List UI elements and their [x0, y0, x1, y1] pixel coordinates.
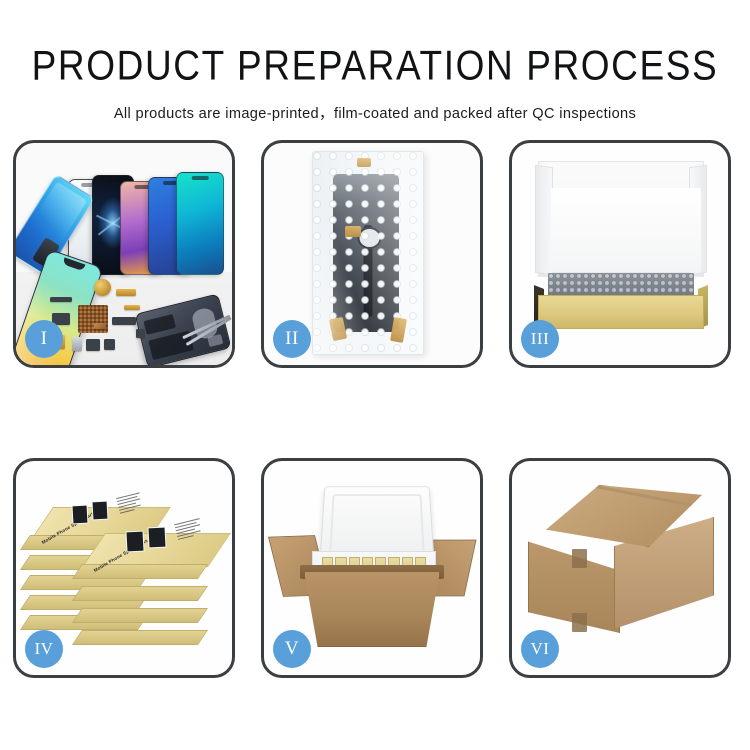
page-title: PRODUCT PREPARATION PROCESS: [0, 45, 750, 86]
step-card-3[interactable]: III: [509, 140, 731, 368]
step-badge-3: III: [521, 320, 559, 358]
step-card-6[interactable]: VI: [509, 458, 731, 678]
screen-print-rear-1: [72, 505, 89, 525]
step-badge-5: V: [273, 630, 311, 668]
foam-sheet: [551, 188, 701, 272]
step-badge-1: I: [25, 320, 63, 358]
tape-patch-lower: [572, 613, 587, 632]
box-lid-foam: [538, 161, 704, 277]
screen-print-front-2: [147, 527, 166, 549]
header: PRODUCT PREPARATION PROCESS All products…: [0, 0, 750, 123]
page-subtitle: All products are image-printed，film-coat…: [0, 102, 750, 123]
step-card-2[interactable]: II: [261, 140, 483, 368]
step-badge-2: II: [273, 320, 311, 358]
step-badge-6: VI: [521, 630, 559, 668]
tape-patch-upper: [572, 549, 587, 568]
plastic-sheen: [313, 152, 423, 354]
camera-ring-part: [94, 279, 111, 296]
bubble-wrap-bag: [312, 151, 424, 355]
open-shipping-carton: [278, 483, 468, 653]
sealed-carton: [526, 485, 716, 653]
product-preparation-infographic: PRODUCT PREPARATION PROCESS All products…: [0, 0, 750, 750]
box-front-kraft: [538, 295, 704, 329]
stack-box-front-5: [82, 629, 208, 645]
process-step-grid: I II: [13, 140, 737, 680]
step-card-1[interactable]: I: [13, 140, 235, 368]
screen-print-rear-2: [92, 501, 109, 521]
spare-parts-cluster: [50, 283, 180, 361]
screen-print-front-1: [125, 531, 144, 553]
phone-lineup: [68, 155, 232, 275]
carton-body: [304, 571, 440, 647]
step-card-5[interactable]: V: [261, 458, 483, 678]
carton-tape-seam: [592, 484, 712, 510]
step-badge-4: IV: [25, 630, 63, 668]
step-card-4[interactable]: Mobile Phone Spare Parts Mobil: [13, 458, 235, 678]
open-inner-box: [534, 161, 708, 337]
stack-box-front-3: [82, 585, 208, 601]
phone-teal-gradient: [176, 172, 224, 275]
stack-box-front-4: [82, 607, 208, 623]
